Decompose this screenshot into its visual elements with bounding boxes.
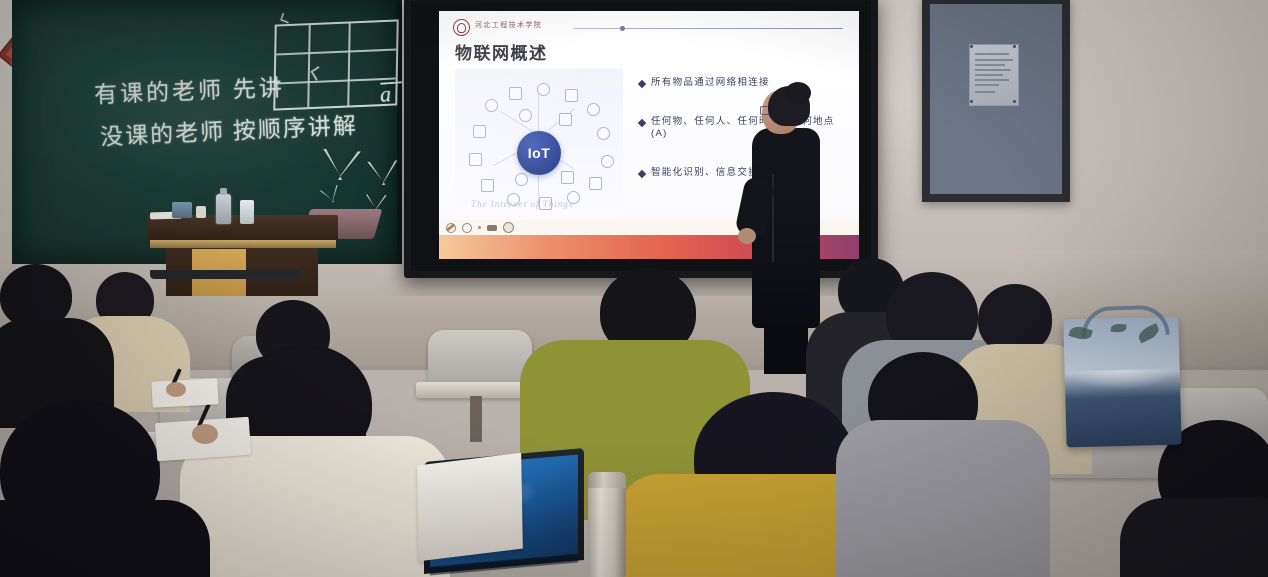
circle-outline-icon[interactable] xyxy=(462,223,472,233)
display-stand xyxy=(150,270,300,279)
slide-header: 河北工程技术学院 xyxy=(453,17,845,37)
posted-notice xyxy=(969,44,1019,106)
student-hand xyxy=(192,424,218,444)
bulletin-board xyxy=(922,0,1070,202)
shape-icon[interactable] xyxy=(503,222,514,233)
university-logo-icon xyxy=(453,19,470,36)
chalk-vector-a: a xyxy=(379,81,404,108)
tote-bag xyxy=(1063,317,1181,448)
iot-center-node: IoT xyxy=(517,131,561,175)
student-hand xyxy=(166,382,186,397)
iot-label: IoT xyxy=(528,145,551,161)
bullet-diamond-icon xyxy=(638,80,646,88)
lectern-small-card xyxy=(196,206,206,218)
lectern-water-bottle xyxy=(216,194,231,224)
blackboard-line-1: 有课的老师 先讲 xyxy=(93,68,285,109)
lecture-seat[interactable] xyxy=(428,330,532,388)
tumbler xyxy=(588,472,626,577)
tumbler-cap xyxy=(588,472,626,488)
dot-icon[interactable] xyxy=(478,226,481,229)
lectern-blue-box xyxy=(172,202,192,218)
bullet-diamond-icon xyxy=(638,119,646,127)
presenter-hair-bun xyxy=(785,82,811,104)
eraser-icon[interactable] xyxy=(487,225,497,231)
lectern-paper-cup xyxy=(240,200,254,224)
tote-pattern xyxy=(1065,368,1180,391)
classroom-scene: 有课的老师 先讲 没课的老师 按顺序讲解 ㄑ ㄑ a xyxy=(0,0,1268,577)
header-dot-icon xyxy=(620,26,625,31)
bullet-diamond-icon xyxy=(638,169,646,177)
blackboard-line-2: 没课的老师 按顺序讲解 xyxy=(99,106,358,152)
chalk-stroke-4 xyxy=(320,185,343,205)
lectern-edge xyxy=(150,240,336,248)
chalk-stroke-2 xyxy=(367,160,399,186)
header-rule xyxy=(573,28,843,29)
presenter-hand xyxy=(738,228,756,244)
presenter-legs xyxy=(764,322,808,374)
university-name: 河北工程技术学院 xyxy=(475,20,542,30)
laptop[interactable] xyxy=(424,455,584,577)
iot-diagram: IoT The Internet of Things xyxy=(455,69,623,219)
iot-caption: The Internet of Things xyxy=(471,199,613,209)
notebook xyxy=(151,378,218,407)
slide-title: 物联网概述 xyxy=(455,39,548,64)
chalk-stroke-1 xyxy=(321,149,361,182)
papers-on-laptop xyxy=(417,453,523,562)
